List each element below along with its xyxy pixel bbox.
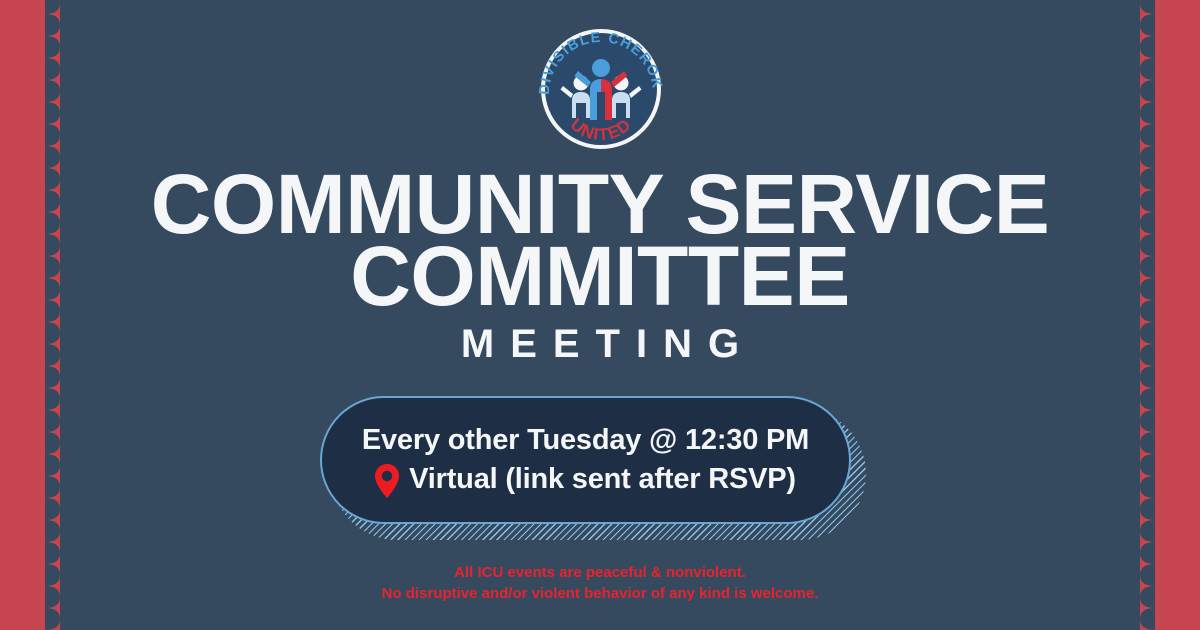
- event-schedule-line: Every other Tuesday @ 12:30 PM: [362, 424, 809, 457]
- event-schedule-text: Every other Tuesday @ 12:30 PM: [362, 424, 809, 457]
- organization-logo: INDIVISIBLE CHEROKEE UNITED: [530, 28, 672, 150]
- left-scalloped-edge: [30, 0, 60, 630]
- event-flyer: INDIVISIBLE CHEROKEE UNITED: [0, 0, 1200, 630]
- event-conduct-disclaimer: All ICU events are peaceful & nonviolent…: [0, 562, 1200, 605]
- event-location-line: Virtual (link sent after RSVP): [375, 463, 796, 497]
- event-details-box: Every other Tuesday @ 12:30 PM Virtual (…: [320, 396, 851, 524]
- flyer-title: COMMUNITY SERVICE COMMITTEE: [0, 168, 1200, 312]
- logo-svg: INDIVISIBLE CHEROKEE UNITED: [530, 28, 672, 150]
- flyer-subtitle: MEETING: [0, 322, 1200, 367]
- disclaimer-line-2: No disruptive and/or violent behavior of…: [0, 583, 1200, 604]
- right-scalloped-edge: [1140, 0, 1170, 630]
- map-pin-icon: [375, 464, 399, 498]
- title-line-2: COMMITTEE: [0, 240, 1200, 312]
- disclaimer-line-1: All ICU events are peaceful & nonviolent…: [0, 562, 1200, 583]
- event-location-text: Virtual (link sent after RSVP): [409, 463, 796, 496]
